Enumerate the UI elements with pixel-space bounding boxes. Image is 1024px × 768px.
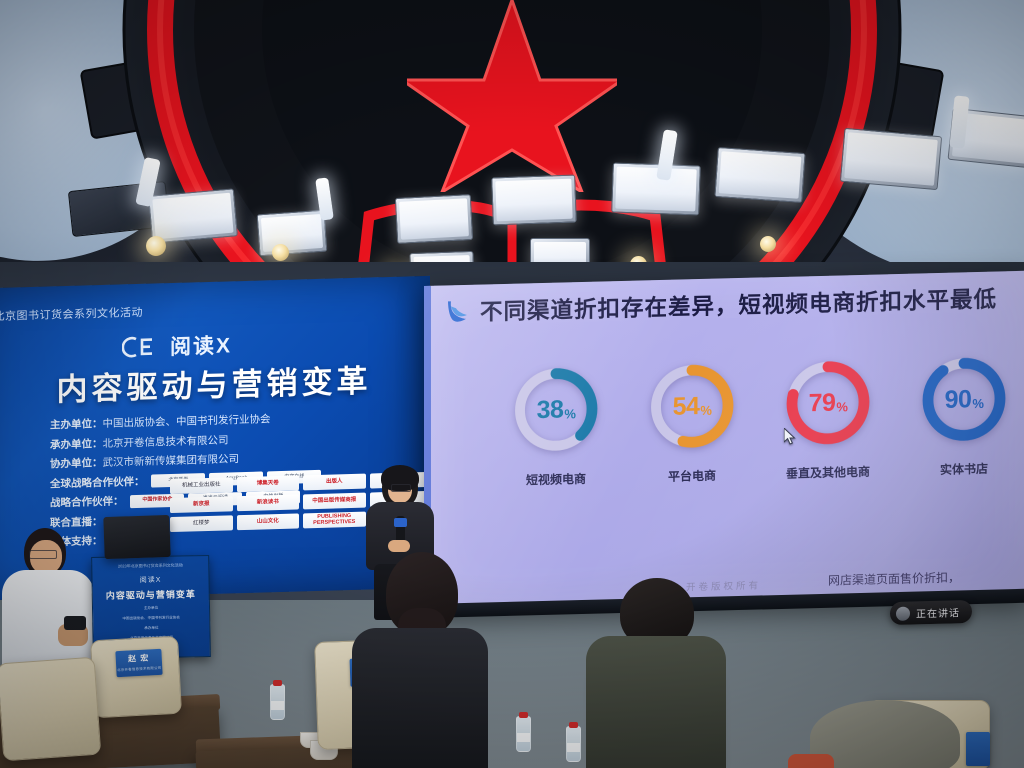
slide-title: 不同渠道折扣存在差异，短视频电商折扣水平最低 [480,281,997,326]
donut-value-0: 38% [511,364,601,456]
donut-label-2: 垂直及其他电商 [786,463,870,482]
name-placard-left: 赵 宏 北京开卷信息技术有限公司 [115,649,162,677]
bottle-cap [273,680,282,686]
table-sign-line-1: 主办单位 [97,604,205,612]
media-logo: 山山文化 [237,513,300,530]
ceiling-light-panel [611,162,701,215]
projection-screen: 不同渠道折扣存在差异，短视频电商折扣水平最低 38% 短视频电商 [424,271,1024,616]
ceiling-light-panel [714,147,805,203]
donut-chart-physical-store: 90% [919,353,1009,445]
banner-kicker: 年北京图书订货会系列文化活动 [0,299,322,324]
table-sign-line-2: 中国出版协会、中国书刊发行业协会 [97,614,205,622]
attendee-right-back [586,578,726,768]
presenter-glasses [391,484,411,492]
ceiling-spotlight [146,236,166,256]
status-badge-label: 正在讲话 [916,604,960,620]
media-logo: 红楼梦 [170,515,233,532]
openbook-wave-logo-icon [442,297,470,326]
ceiling-light-panel [148,188,238,243]
ceiling-star-icon [407,0,617,192]
ceiling-light-panel [257,210,328,257]
placard-name: 赵 宏 [128,654,150,663]
ceiling-spotlight [760,236,776,252]
donut-chart-platform: 54% [647,360,737,452]
slide-caption-text: 网店渠道页面售价折扣， [828,568,960,588]
donut-value-1: 54% [647,360,737,452]
bottle-label [567,743,580,752]
table-sign-title: 内容驱动与营销变革 [97,587,205,602]
attendee-foreground-hat [800,700,980,768]
donut-cell-0: 38% 短视频电商 [500,363,612,489]
conference-hall-photo: 年北京图书订货会系列文化活动 阅读X 内容驱动与营销变革 主办单位：中国出版协会… [0,0,1024,768]
attendee-right-shoulders [586,636,726,768]
attendee-center-back [352,552,488,768]
attendee-center-shoulders [352,628,488,768]
table-sign-line-3: 承办单位 [97,624,205,632]
mouse-pointer-icon [784,428,797,445]
ceiling-light-panel [395,194,473,244]
table-sign-kicker: 2023年北京图书订货会系列文化活动 [96,562,204,570]
ceiling-light-panel [840,128,942,190]
donut-chart-group: 38% 短视频电商 54% 平台电商 [500,353,1020,489]
table-sign-logo: 阅读X [96,574,204,586]
slide-header: 不同渠道折扣存在差异，短视频电商折扣水平最低 [442,281,1022,328]
media-logo: 机械工业出版社 [170,477,233,494]
banner-logo: 阅读X [122,329,232,362]
attendee-left-glasses [29,550,57,559]
attendee-left [2,528,94,668]
ceiling-light-panel [491,175,577,226]
ceiling [0,0,1024,300]
placard-subtitle: 北京开卷信息技术有限公司 [117,665,161,672]
media-logo: 新浪读书 [237,494,300,511]
chair-far-left [0,657,101,762]
reading-x-logo-icon [122,335,162,358]
donut-label-0: 短视频电商 [526,470,586,489]
water-bottle [516,716,531,752]
media-logo: 新京报 [170,496,233,513]
bottle-label [517,733,530,742]
media-logo: 博集天卷 [237,475,300,492]
attendee-left-phone [64,616,86,630]
donut-cell-3: 90% 实体书店 [908,353,1020,479]
donut-label-1: 平台电商 [668,467,716,485]
bottle-label [271,701,284,710]
donut-cell-2: 79% 垂直及其他电商 [772,356,884,482]
presenter-hands [388,540,410,552]
donut-chart-short-video: 38% [511,364,601,456]
water-bottle [270,684,285,720]
water-bottle [566,726,581,762]
bottle-cap [569,722,578,728]
banner-logo-text: 阅读X [170,329,232,361]
attendee-foreground-collar [788,754,834,768]
status-badge: 正在讲话 [890,600,972,625]
donut-cell-1: 54% 平台电商 [636,360,748,486]
bottle-cap [519,712,528,718]
ceiling-spotlight [272,244,289,261]
microphone-flag [394,518,407,527]
laptop [103,515,170,559]
microphone-icon [896,606,910,620]
donut-value-3: 90% [919,353,1009,445]
donut-label-3: 实体书店 [940,460,988,478]
chair-left [90,636,182,718]
banner-title: 内容驱动与营销变革 [24,355,404,411]
